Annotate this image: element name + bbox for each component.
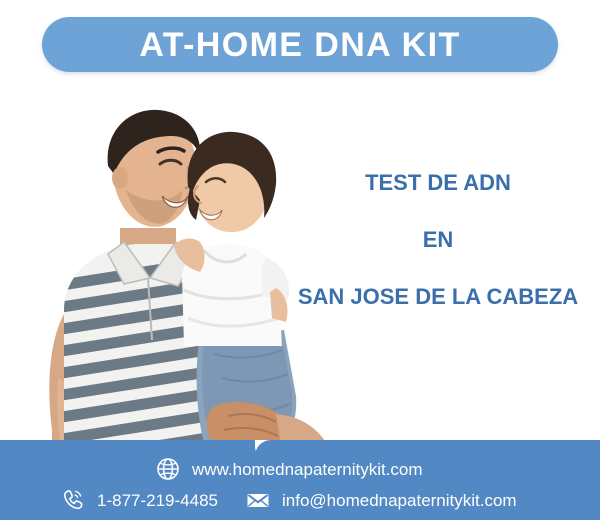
footer-phone-row[interactable]: 1-877-219-4485 bbox=[60, 487, 218, 513]
title-pill: AT-HOME DNA KIT bbox=[42, 17, 558, 72]
headline-block: TEST DE ADN EN SAN JOSE DE LA CABEZA bbox=[278, 160, 598, 308]
headline-line-3: SAN JOSE DE LA CABEZA bbox=[278, 286, 598, 308]
phone-icon bbox=[60, 487, 86, 513]
email-text[interactable]: info@homednapaternitykit.com bbox=[282, 492, 517, 509]
footer-email-row[interactable]: info@homednapaternitykit.com bbox=[245, 487, 517, 513]
website-text[interactable]: www.homednapaternitykit.com bbox=[192, 461, 423, 478]
phone-text[interactable]: 1-877-219-4485 bbox=[97, 492, 218, 509]
poster-canvas: AT-HOME DNA KIT bbox=[0, 0, 600, 520]
headline-line-1: TEST DE ADN bbox=[278, 172, 598, 194]
envelope-icon bbox=[245, 487, 271, 513]
page-title: AT-HOME DNA KIT bbox=[139, 28, 460, 62]
globe-icon bbox=[155, 456, 181, 482]
headline-line-2: EN bbox=[278, 229, 598, 251]
footer-website-row[interactable]: www.homednapaternitykit.com bbox=[155, 456, 423, 482]
